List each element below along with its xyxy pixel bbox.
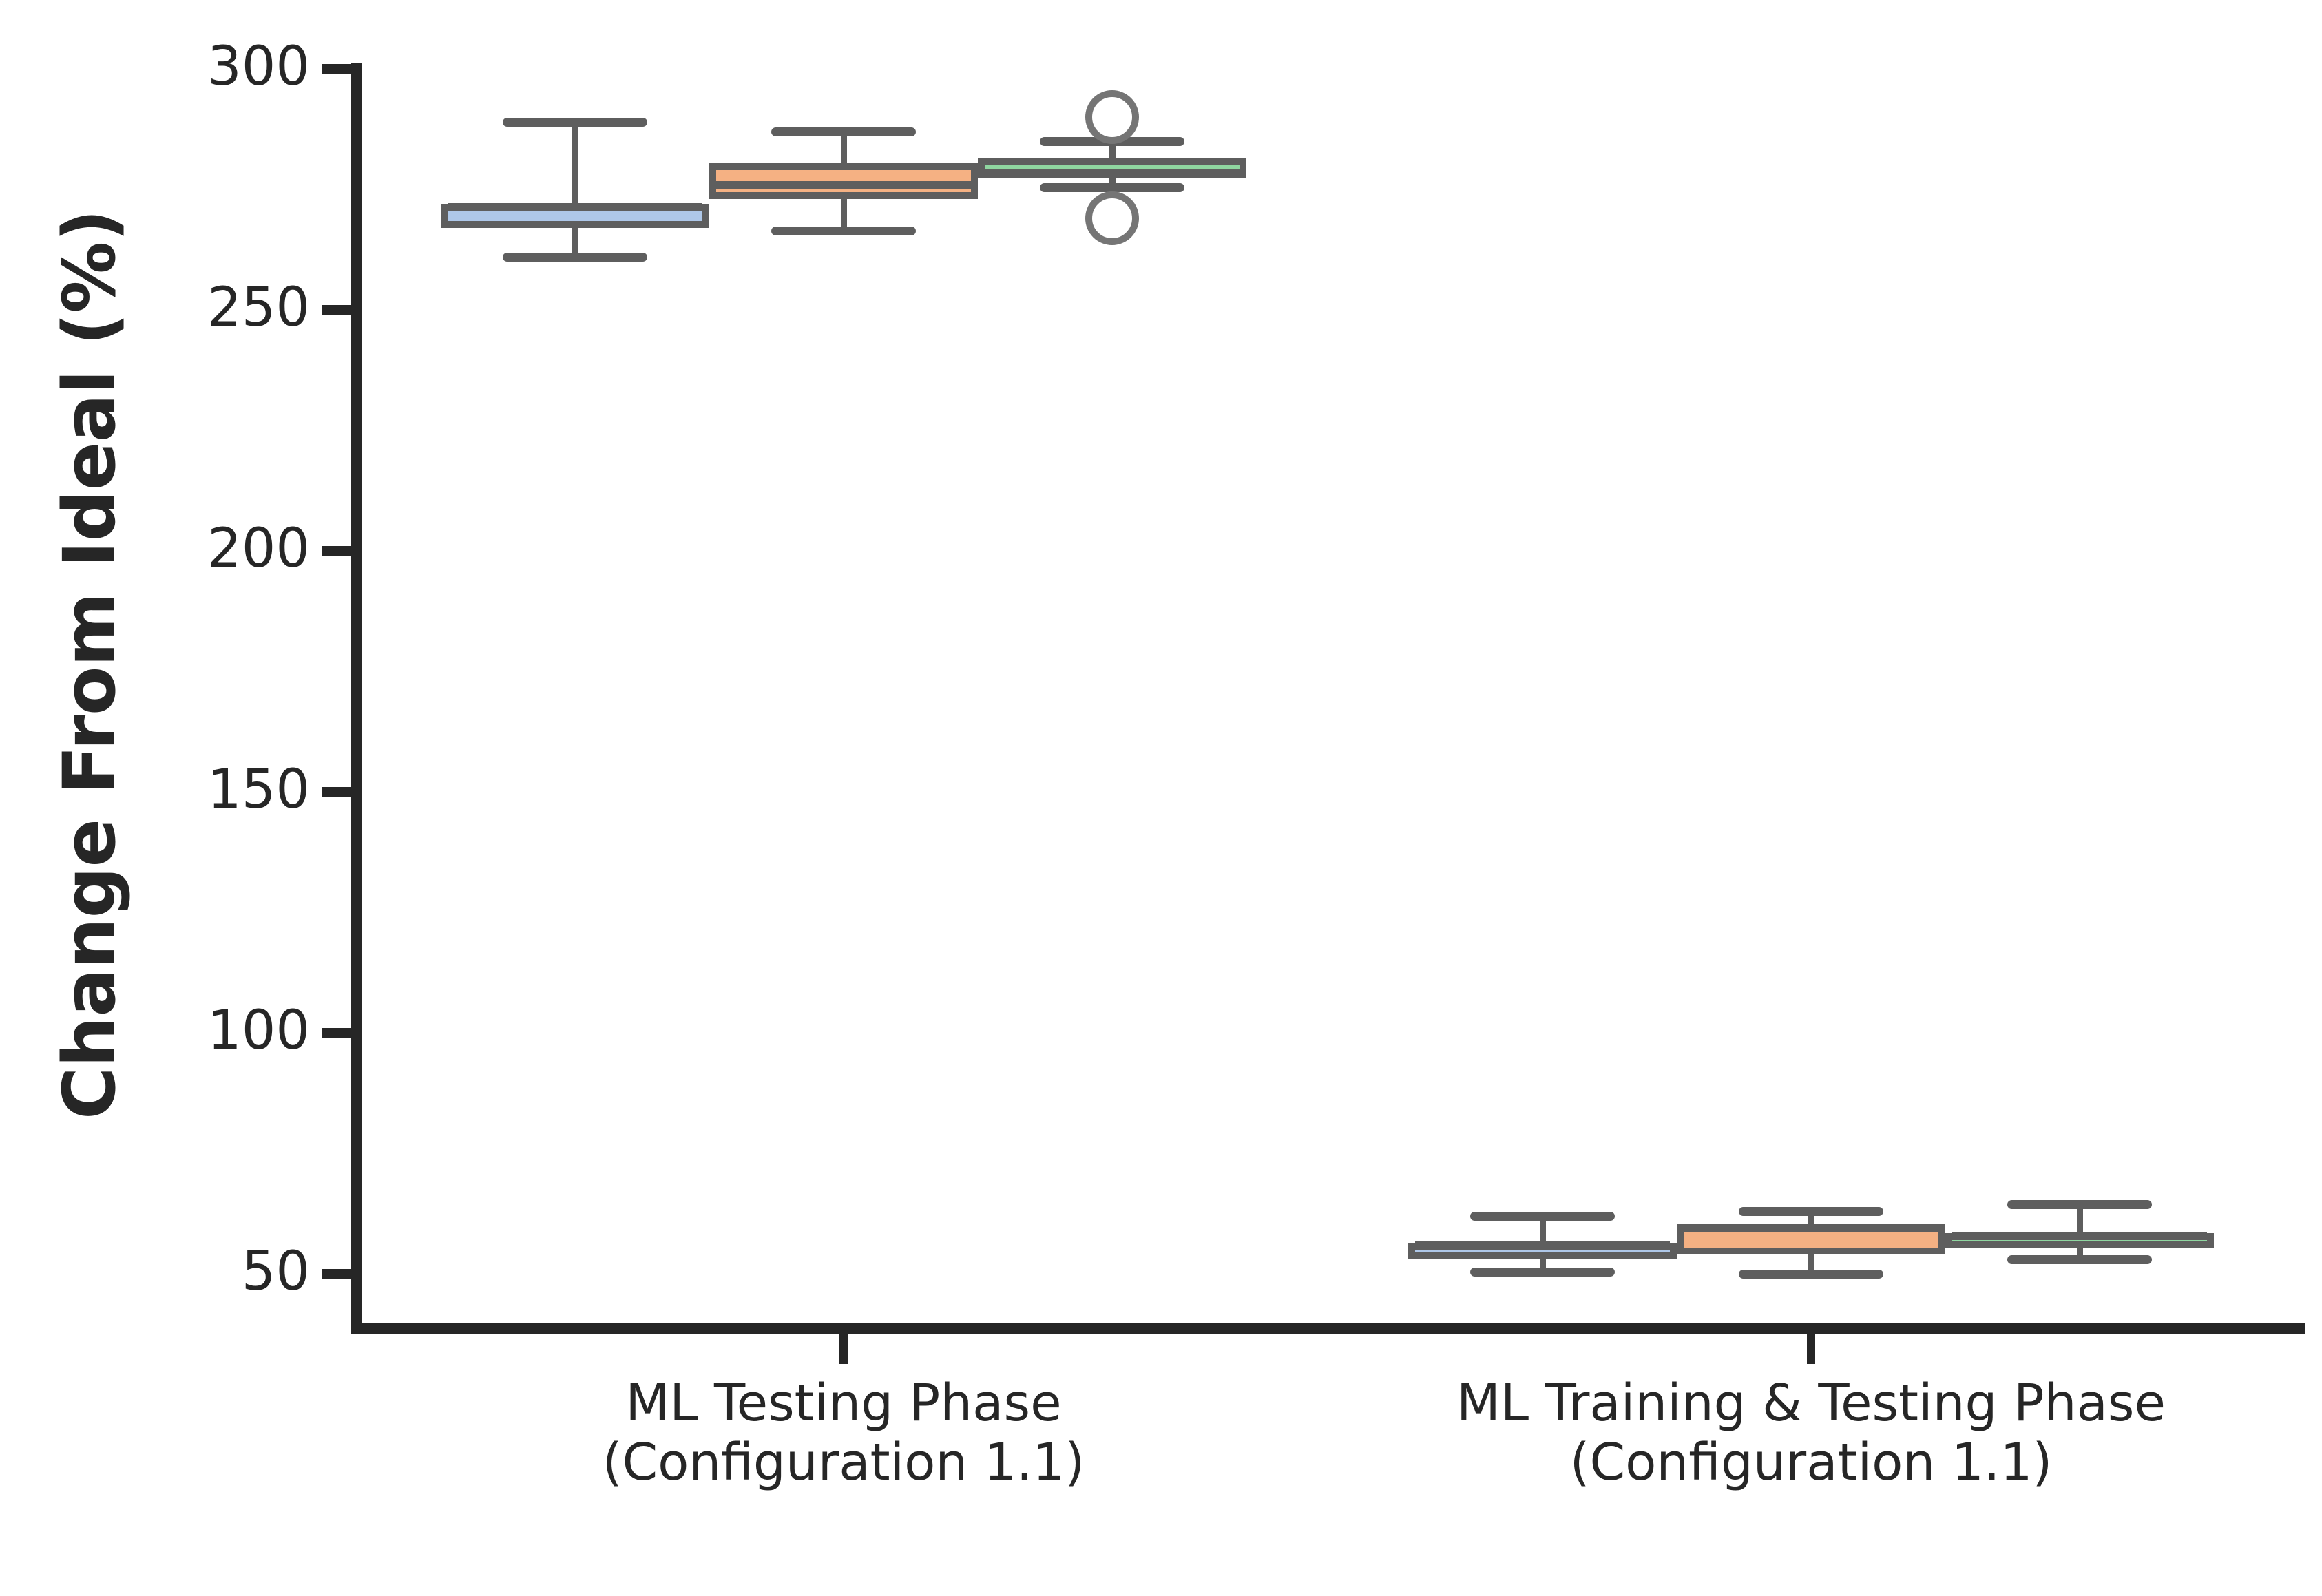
y-tick-label-200: 200: [103, 522, 310, 576]
y-tick-200: [322, 546, 351, 556]
y-tick-50: [322, 1269, 351, 1279]
outlier-point-series-3-1: [1085, 191, 1139, 245]
median-line-series-3: [1952, 1232, 2207, 1239]
outlier-point-series-3-0: [1085, 90, 1139, 144]
x-tick-0: [839, 1334, 848, 1364]
whisker-cap-upper-series-2: [1739, 1207, 1884, 1216]
whisker-cap-lower-series-2: [771, 227, 917, 235]
x-tick-label-line: (Configuration 1.1): [1329, 1433, 2293, 1492]
median-line-series-2: [716, 181, 971, 189]
y-tick-label-100: 100: [103, 1004, 310, 1058]
whisker-upper-series-1: [572, 122, 578, 204]
whisker-cap-lower-series-2: [1739, 1270, 1884, 1279]
whisker-lower-series-2: [841, 199, 847, 231]
x-tick-1: [1807, 1334, 1815, 1364]
x-axis-category-label-1: ML Training & Testing Phase(Configuratio…: [1329, 1374, 2293, 1492]
whisker-cap-lower-series-1: [1470, 1268, 1615, 1277]
x-tick-label-line: ML Testing Phase: [362, 1374, 1326, 1433]
x-tick-label-line: (Configuration 1.1): [362, 1433, 1326, 1492]
chart-canvas: Change From Ideal (%) 30025020015010050 …: [0, 0, 2322, 1596]
y-tick-300: [322, 64, 351, 74]
y-tick-label-300: 300: [103, 40, 310, 94]
y-tick-label-150: 150: [103, 763, 310, 817]
y-tick-250: [322, 305, 351, 315]
x-axis-spine: [351, 1323, 2305, 1334]
y-tick-label-50: 50: [103, 1245, 310, 1299]
y-axis-label: Change From Ideal (%): [48, 209, 132, 1120]
whisker-cap-lower-series-3: [1040, 183, 1185, 192]
whisker-cap-upper-series-3: [2007, 1200, 2153, 1209]
y-axis-label-wrapper: Change From Ideal (%): [48, 79, 131, 1250]
median-line-series-1: [448, 203, 702, 211]
whisker-cap-upper-series-1: [1470, 1212, 1615, 1221]
whisker-cap-lower-series-1: [503, 253, 648, 262]
median-line-series-2: [1684, 1225, 1938, 1232]
y-tick-100: [322, 1028, 351, 1038]
median-line-series-1: [1415, 1241, 1670, 1249]
median-line-series-3: [985, 169, 1240, 177]
y-tick-150: [322, 787, 351, 797]
whisker-cap-lower-series-3: [2007, 1255, 2153, 1264]
x-axis-category-label-0: ML Testing Phase(Configuration 1.1): [362, 1374, 1326, 1492]
whisker-cap-upper-series-1: [503, 118, 648, 127]
y-tick-label-250: 250: [103, 281, 310, 335]
y-axis-spine: [351, 63, 362, 1334]
whisker-cap-upper-series-2: [771, 127, 917, 136]
x-tick-label-line: ML Training & Testing Phase: [1329, 1374, 2293, 1433]
